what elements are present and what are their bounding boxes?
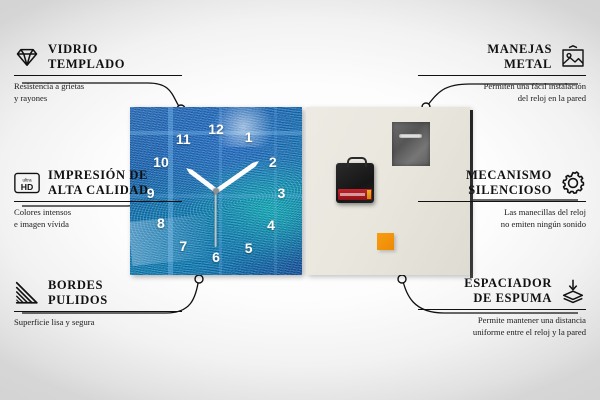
clock-mechanism-part: [336, 163, 374, 203]
callout-description: Las manecillas del reloj no emiten ningú…: [418, 206, 586, 230]
infographic-canvas: 12 1 2 3 4 5 6 7 8 9 10 11: [0, 0, 600, 400]
callout-mecanismo-silencioso: MECANISMO SILENCIOSO Las manecillas del …: [418, 168, 586, 231]
callout-divider: [14, 311, 182, 313]
callout-title: MANEJAS METAL: [487, 42, 552, 72]
callout-description: Resistencia a grietas y rayones: [14, 80, 182, 104]
wall-hanger-icon: [560, 44, 586, 70]
callout-title: BORDES PULIDOS: [48, 278, 108, 308]
callout-divider: [14, 201, 182, 203]
clock-numeral-5: 5: [245, 241, 253, 255]
hanger-slot: [399, 134, 422, 138]
svg-text:HD: HD: [21, 182, 34, 192]
callout-title: VIDRIO TEMPLADO: [48, 42, 125, 72]
clock-numeral-11: 11: [176, 132, 191, 146]
callout-description: Permite mantener una distancia uniforme …: [418, 314, 586, 338]
callout-bordes-pulidos: BORDES PULIDOS Superficie lisa y segura: [14, 278, 182, 328]
ultra-hd-icon: ultra HD: [14, 170, 40, 196]
callout-divider: [14, 75, 182, 77]
gear-icon: [560, 170, 586, 196]
metal-hanger-part: [392, 122, 430, 166]
clock-second-hand: [215, 191, 217, 247]
callout-impresion-alta-calidad: ultra HD IMPRESIÓN DE ALTA CALIDAD Color…: [14, 168, 182, 231]
clock-numeral-3: 3: [277, 186, 285, 200]
callout-divider: [418, 309, 586, 311]
battery-part: [338, 189, 371, 199]
connector-dot-bordes: [195, 275, 203, 283]
callout-title: ESPACIADOR DE ESPUMA: [464, 276, 552, 306]
clock-center-cap: [213, 188, 219, 194]
callout-divider: [418, 75, 586, 77]
callout-title: MECANISMO SILENCIOSO: [466, 168, 552, 198]
clock-numeral-4: 4: [267, 218, 275, 232]
connector-dot-espaciador: [398, 275, 406, 283]
callout-vidrio-templado: VIDRIO TEMPLADO Resistencia a grietas y …: [14, 42, 182, 105]
callout-espaciador-espuma: ESPACIADOR DE ESPUMA Permite mantener un…: [418, 276, 586, 339]
battery-terminal: [367, 190, 372, 198]
clock-numeral-2: 2: [269, 155, 277, 169]
foam-spacer-icon: [560, 278, 586, 304]
callout-description: Superficie lisa y segura: [14, 316, 182, 328]
callout-divider: [418, 201, 586, 203]
callout-title: IMPRESIÓN DE ALTA CALIDAD: [48, 168, 149, 198]
clock-numeral-1: 1: [245, 130, 253, 144]
clock-numeral-6: 6: [212, 250, 220, 264]
callout-manejas-metal: MANEJAS METAL Permiten una fácil instala…: [418, 42, 586, 105]
polished-edge-icon: [14, 280, 40, 306]
diamond-icon: [14, 44, 40, 70]
clock-numeral-7: 7: [179, 239, 187, 253]
clock-numeral-12: 12: [208, 122, 224, 136]
mechanism-hook: [347, 157, 367, 167]
callout-description: Permiten una fácil instalación del reloj…: [418, 80, 586, 104]
callout-description: Colores intensos e imagen vívida: [14, 206, 182, 230]
battery-label: [340, 193, 365, 195]
foam-spacer-part: [377, 233, 394, 250]
